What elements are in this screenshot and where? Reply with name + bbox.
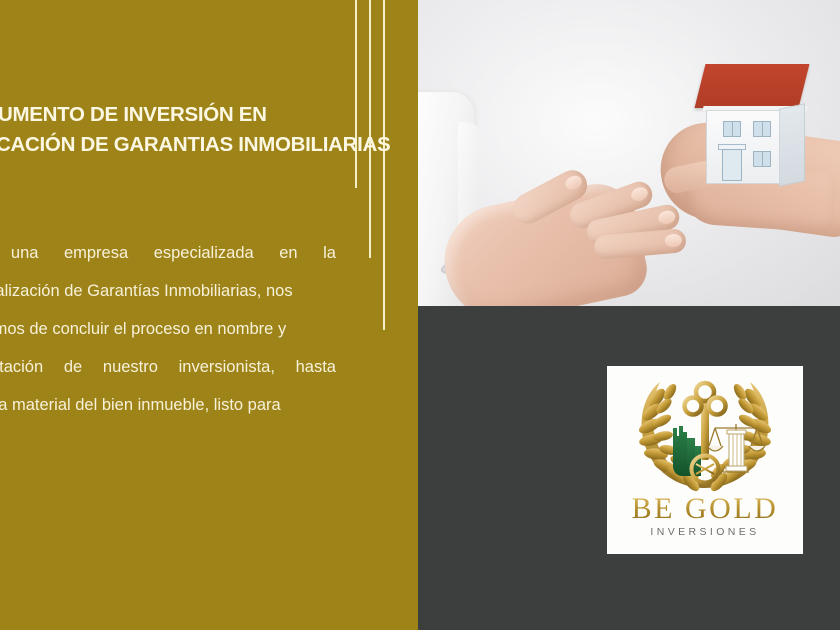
house-window-3: [753, 151, 771, 167]
be-gold-emblem: [627, 376, 783, 494]
body-line-4: representación de nuestro inversionista,…: [0, 348, 336, 386]
body-line-2: Comercialización de Garantías Inmobiliar…: [0, 272, 338, 310]
house-roof: [695, 64, 810, 108]
house-window-1: [723, 121, 741, 137]
brand-name: BE GOLD: [607, 492, 803, 526]
body-word: inversionista,: [179, 348, 275, 386]
finger-nail: [629, 185, 649, 203]
body-word: especializada: [154, 234, 254, 272]
body-word: nuestro: [103, 348, 158, 386]
classical-column-icon: [726, 430, 747, 471]
body-word: de: [64, 348, 82, 386]
house-front-wall: [706, 110, 780, 184]
body-word: una: [11, 234, 39, 272]
company-logo-card: BE GOLD INVERSIONES: [607, 366, 803, 554]
body-word: empresa: [64, 234, 128, 272]
body-line-6: habitar.: [0, 424, 338, 462]
skeleton-key-icon: [685, 383, 726, 483]
body-line-5: la entrega material del bien inmueble, l…: [0, 386, 338, 424]
model-house: [700, 64, 808, 186]
body-word: hasta: [296, 348, 336, 386]
body-line-3: encargamos de concluir el proceso en nom…: [0, 310, 338, 348]
title-line-1: INSTRUMENTO DE INVERSIÓN EN: [0, 100, 350, 130]
presentation-slide: INSTRUMENTO DE INVERSIÓN EN COLOCACIÓN D…: [0, 0, 840, 630]
house-side-wall: [779, 103, 805, 187]
body-line-1: Somos una empresa especializada en la: [0, 234, 336, 272]
hands-house-photo: [418, 0, 840, 306]
brand-tagline: INVERSIONES: [607, 526, 803, 538]
decorative-line-3: [383, 0, 385, 330]
house-window-2: [753, 121, 771, 137]
finger-nail: [664, 233, 682, 247]
body-word: la: [323, 234, 336, 272]
finger-nail: [657, 209, 676, 225]
slide-body-text: Somos una empresa especializada en la Co…: [0, 234, 338, 462]
decorative-line-1: [355, 0, 357, 188]
house-door: [722, 149, 742, 181]
thumb-nail: [563, 173, 584, 192]
body-word: en: [279, 234, 297, 272]
slide-title: INSTRUMENTO DE INVERSIÓN EN COLOCACIÓN D…: [0, 100, 350, 160]
title-line-2: COLOCACIÓN DE GARANTIAS INMOBILIARIAS: [0, 130, 350, 160]
decorative-line-2: [369, 0, 371, 258]
body-word: representación: [0, 348, 43, 386]
